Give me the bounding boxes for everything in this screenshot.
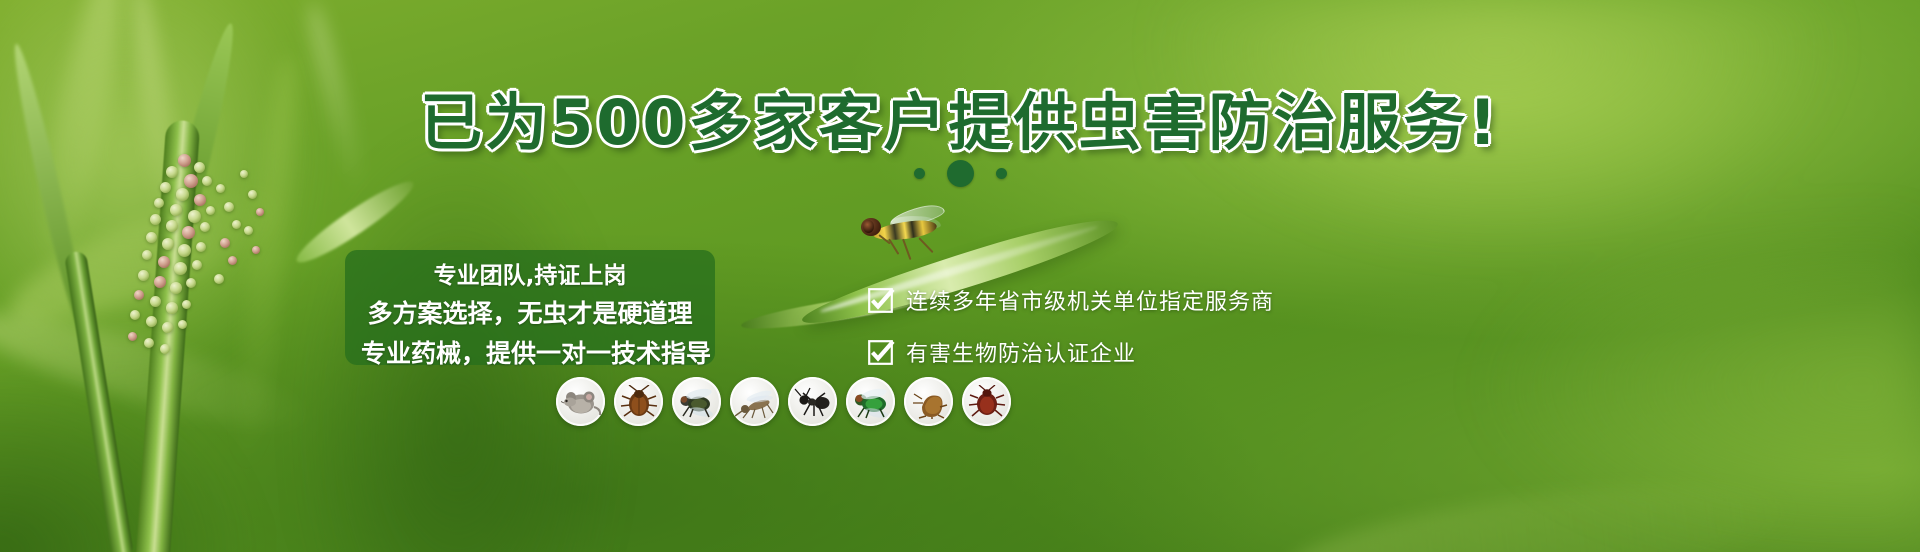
decorative-dots <box>0 160 1920 187</box>
promo-banner: 已为500多家客户提供虫害防治服务! 专业团队,持证上岗 多方案选择，无虫才是硬… <box>0 0 1920 552</box>
dot-small-left <box>914 168 925 179</box>
mouse-icon[interactable] <box>556 377 605 426</box>
ant-icon[interactable] <box>788 377 837 426</box>
blowfly-icon[interactable] <box>846 377 895 426</box>
flea-icon[interactable] <box>904 377 953 426</box>
selling-points-panel: 专业团队,持证上岗 多方案选择，无虫才是硬道理 专业药械，提供一对一技术指导 <box>345 250 715 365</box>
pest-icon-row <box>556 377 1011 426</box>
cockroach-icon[interactable] <box>614 377 663 426</box>
hoverfly-icon <box>845 200 965 258</box>
page-title: 已为500多家客户提供虫害防治服务! <box>0 72 1920 162</box>
dot-large <box>947 160 974 187</box>
checkbox-checked-icon <box>868 340 893 365</box>
list-item-label: 连续多年省市级机关单位指定服务商 <box>906 284 1274 316</box>
checkbox-checked-icon <box>868 288 893 313</box>
panel-line-2: 多方案选择，无虫才是硬道理 <box>361 294 699 334</box>
bedbug-icon[interactable] <box>962 377 1011 426</box>
list-item: 有害生物防治认证企业 <box>868 328 1274 376</box>
list-item-label: 有害生物防治认证企业 <box>906 336 1136 368</box>
fly-icon[interactable] <box>672 377 721 426</box>
credentials-list: 连续多年省市级机关单位指定服务商 有害生物防治认证企业 <box>868 276 1274 376</box>
dot-small-right <box>996 168 1007 179</box>
panel-line-3: 专业药械，提供一对一技术指导 <box>361 334 699 374</box>
mosquito-icon[interactable] <box>730 377 779 426</box>
panel-line-1: 专业团队,持证上岗 <box>361 258 699 294</box>
list-item: 连续多年省市级机关单位指定服务商 <box>868 276 1274 324</box>
